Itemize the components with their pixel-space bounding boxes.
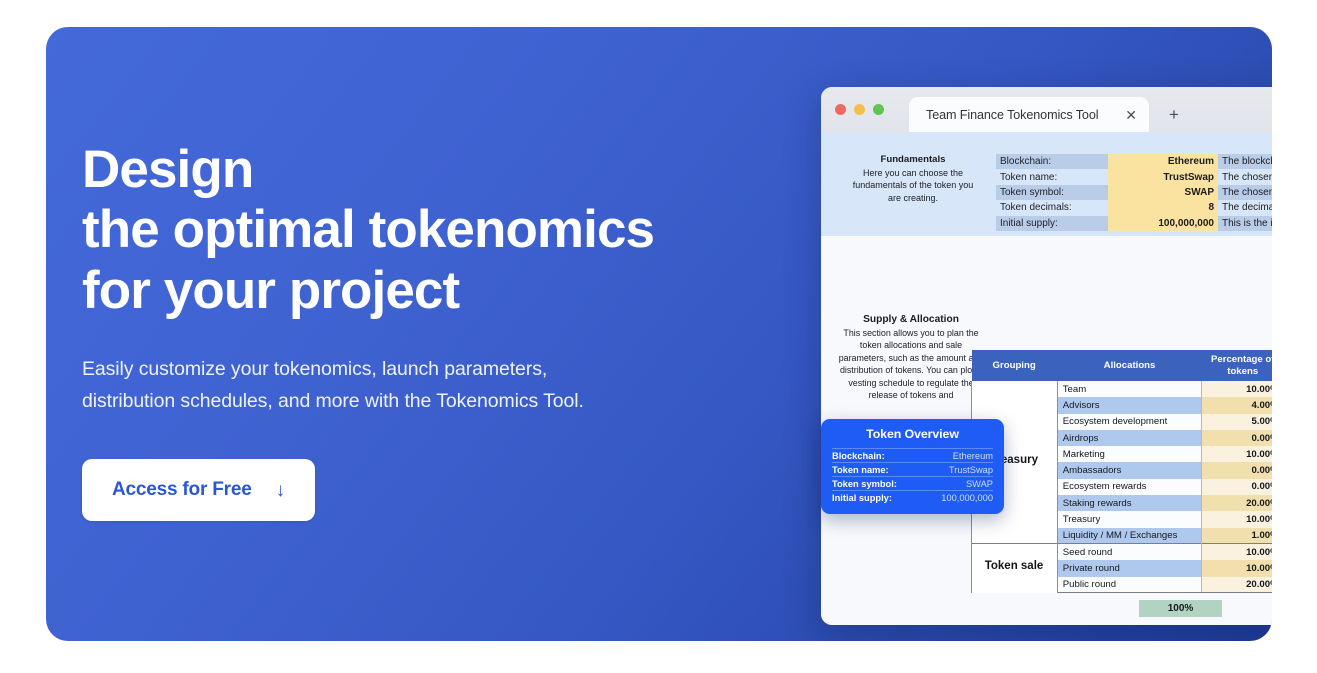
cell-percentage[interactable]: 10.00% xyxy=(1202,511,1272,527)
spreadsheet-canvas[interactable]: Fundamentals Here you can choose the fun… xyxy=(821,132,1272,625)
cell-allocation[interactable]: Marketing xyxy=(1057,446,1202,462)
heading-line-3: for your project xyxy=(82,261,742,321)
cell-value[interactable]: 100,000,000 xyxy=(1108,216,1218,231)
fundamentals-title: Fundamentals xyxy=(845,154,981,165)
table-row[interactable]: Initial supply: 100,000,000 This is the … xyxy=(996,216,1272,231)
cell-allocation[interactable]: Public round xyxy=(1057,577,1202,593)
hero-copy: Design the optimal tokenomics for your p… xyxy=(82,140,742,521)
cell-value[interactable]: Ethereum xyxy=(1108,154,1218,169)
cell-label[interactable]: Token name: xyxy=(996,169,1108,184)
token-overview-row: Token name: TrustSwap xyxy=(832,462,993,476)
access-for-free-button[interactable]: Access for Free ↓ xyxy=(82,459,315,521)
group-label-token-sale: Token sale xyxy=(971,560,1057,572)
close-window-icon[interactable] xyxy=(835,104,846,115)
column-header-grouping[interactable]: Grouping xyxy=(972,350,1058,381)
cell-percentage[interactable]: 0.00% xyxy=(1202,479,1272,495)
table-row[interactable]: Team 10.00% xyxy=(972,381,1273,397)
cell-percentage[interactable]: 10.00% xyxy=(1202,560,1272,576)
cell-allocation[interactable]: Advisors xyxy=(1057,397,1202,413)
token-overview-value: SWAP xyxy=(966,479,993,489)
cell-value[interactable]: 8 xyxy=(1108,200,1218,215)
cell-percentage[interactable]: 10.00% xyxy=(1202,446,1272,462)
cell-description[interactable]: The blockchain you wi xyxy=(1218,154,1272,169)
cell-description[interactable]: This is the initial amou xyxy=(1218,216,1272,231)
fundamentals-table-body: Blockchain: Ethereum The blockchain you … xyxy=(996,154,1272,231)
cell-allocation[interactable]: Ecosystem development xyxy=(1057,414,1202,430)
allocation-total-badge: 100% xyxy=(1139,600,1222,617)
cell-percentage[interactable]: 10.00% xyxy=(1202,544,1272,560)
cell-allocation[interactable]: Seed round xyxy=(1057,544,1202,560)
token-overview-key: Token name: xyxy=(832,465,889,475)
browser-window: Team Finance Tokenomics Tool ✕ + Fundame… xyxy=(821,87,1272,625)
fundamentals-table[interactable]: Blockchain: Ethereum The blockchain you … xyxy=(996,154,1272,231)
browser-tab-title: Team Finance Tokenomics Tool xyxy=(926,108,1098,122)
hero-card: Design the optimal tokenomics for your p… xyxy=(46,27,1272,641)
token-overview-key: Blockchain: xyxy=(832,451,885,461)
close-icon[interactable]: ✕ xyxy=(1125,108,1137,122)
new-tab-icon[interactable]: + xyxy=(1169,106,1179,123)
heading-line-2: the optimal tokenomics xyxy=(82,200,742,260)
cell-percentage[interactable]: 4.00% xyxy=(1202,397,1272,413)
cell-label[interactable]: Token decimals: xyxy=(996,200,1108,215)
browser-tab[interactable]: Team Finance Tokenomics Tool ✕ xyxy=(909,97,1149,132)
cell-description[interactable]: The chosen symbol fo xyxy=(1218,185,1272,200)
arrow-down-icon: ↓ xyxy=(276,481,286,500)
token-overview-key: Token symbol: xyxy=(832,479,897,489)
allocation-total-caption: Of the tokens have been allocated. xyxy=(1121,624,1241,625)
cell-value[interactable]: TrustSwap xyxy=(1108,169,1218,184)
table-row[interactable]: Token name: TrustSwap The chosen name fo… xyxy=(996,169,1272,184)
table-row[interactable]: Token symbol: SWAP The chosen symbol fo xyxy=(996,185,1272,200)
cell-label[interactable]: Token symbol: xyxy=(996,185,1108,200)
table-row[interactable]: Blockchain: Ethereum The blockchain you … xyxy=(996,154,1272,169)
token-overview-value: 100,000,000 xyxy=(941,493,993,503)
fundamentals-description: Here you can choose the fundamentals of … xyxy=(845,167,981,204)
cell-label[interactable]: Blockchain: xyxy=(996,154,1108,169)
allocation-table[interactable]: Grouping Allocations Percentage of token… xyxy=(971,350,1272,593)
window-controls xyxy=(835,104,884,115)
token-overview-card: Token Overview Blockchain: Ethereum Toke… xyxy=(821,419,1004,514)
cell-percentage[interactable]: 10.00% xyxy=(1202,381,1272,397)
cell-percentage[interactable]: 0.00% xyxy=(1202,462,1272,478)
cell-allocation[interactable]: Ecosystem rewards xyxy=(1057,479,1202,495)
fundamentals-section: Fundamentals Here you can choose the fun… xyxy=(845,154,981,204)
maximize-window-icon[interactable] xyxy=(873,104,884,115)
token-overview-value: TrustSwap xyxy=(949,465,993,475)
token-overview-row: Token symbol: SWAP xyxy=(832,476,993,490)
page-title: Design the optimal tokenomics for your p… xyxy=(82,140,742,321)
token-overview-row: Initial supply: 100,000,000 xyxy=(832,490,993,504)
cell-allocation[interactable]: Airdrops xyxy=(1057,430,1202,446)
cell-percentage[interactable]: 20.00% xyxy=(1202,577,1272,593)
hero-subtitle: Easily customize your tokenomics, launch… xyxy=(82,354,742,417)
cell-description[interactable]: The chosen name for y xyxy=(1218,169,1272,184)
cell-allocation[interactable]: Staking rewards xyxy=(1057,495,1202,511)
table-row[interactable]: Token decimals: 8 The decimal precision xyxy=(996,200,1272,215)
cell-allocation[interactable]: Team xyxy=(1057,381,1202,397)
supply-allocation-description: This section allows you to plan the toke… xyxy=(837,327,985,402)
table-row[interactable]: Seed round 10.00% xyxy=(972,544,1273,560)
subtitle-line-2: distribution schedules, and more with th… xyxy=(82,386,742,418)
cell-allocation[interactable]: Ambassadors xyxy=(1057,462,1202,478)
cell-percentage[interactable]: 1.00% xyxy=(1202,528,1272,544)
allocation-table-head: Grouping Allocations Percentage of token… xyxy=(972,350,1273,381)
cell-allocation[interactable]: Liquidity / MM / Exchanges xyxy=(1057,528,1202,544)
column-header-allocations[interactable]: Allocations xyxy=(1057,350,1202,381)
column-header-percentage[interactable]: Percentage of tokens xyxy=(1202,350,1272,381)
browser-tab-bar: Team Finance Tokenomics Tool ✕ + xyxy=(821,87,1272,132)
cell-percentage[interactable]: 20.00% xyxy=(1202,495,1272,511)
supply-allocation-title: Supply & Allocation xyxy=(837,314,985,325)
heading-line-1: Design xyxy=(82,140,742,200)
cell-allocation[interactable]: Treasury xyxy=(1057,511,1202,527)
cell-allocation[interactable]: Private round xyxy=(1057,560,1202,576)
subtitle-line-1: Easily customize your tokenomics, launch… xyxy=(82,354,742,386)
cell-percentage[interactable]: 5.00% xyxy=(1202,414,1272,430)
cell-label[interactable]: Initial supply: xyxy=(996,216,1108,231)
table-header-row: Grouping Allocations Percentage of token… xyxy=(972,350,1273,381)
token-overview-row: Blockchain: Ethereum xyxy=(832,448,993,462)
cell-value[interactable]: SWAP xyxy=(1108,185,1218,200)
minimize-window-icon[interactable] xyxy=(854,104,865,115)
cell-percentage[interactable]: 0.00% xyxy=(1202,430,1272,446)
cta-label: Access for Free xyxy=(112,479,252,501)
cell-description[interactable]: The decimal precision xyxy=(1218,200,1272,215)
token-overview-title: Token Overview xyxy=(832,427,993,441)
token-overview-value: Ethereum xyxy=(953,451,993,461)
token-overview-key: Initial supply: xyxy=(832,493,892,503)
supply-allocation-section: Supply & Allocation This section allows … xyxy=(837,314,985,402)
